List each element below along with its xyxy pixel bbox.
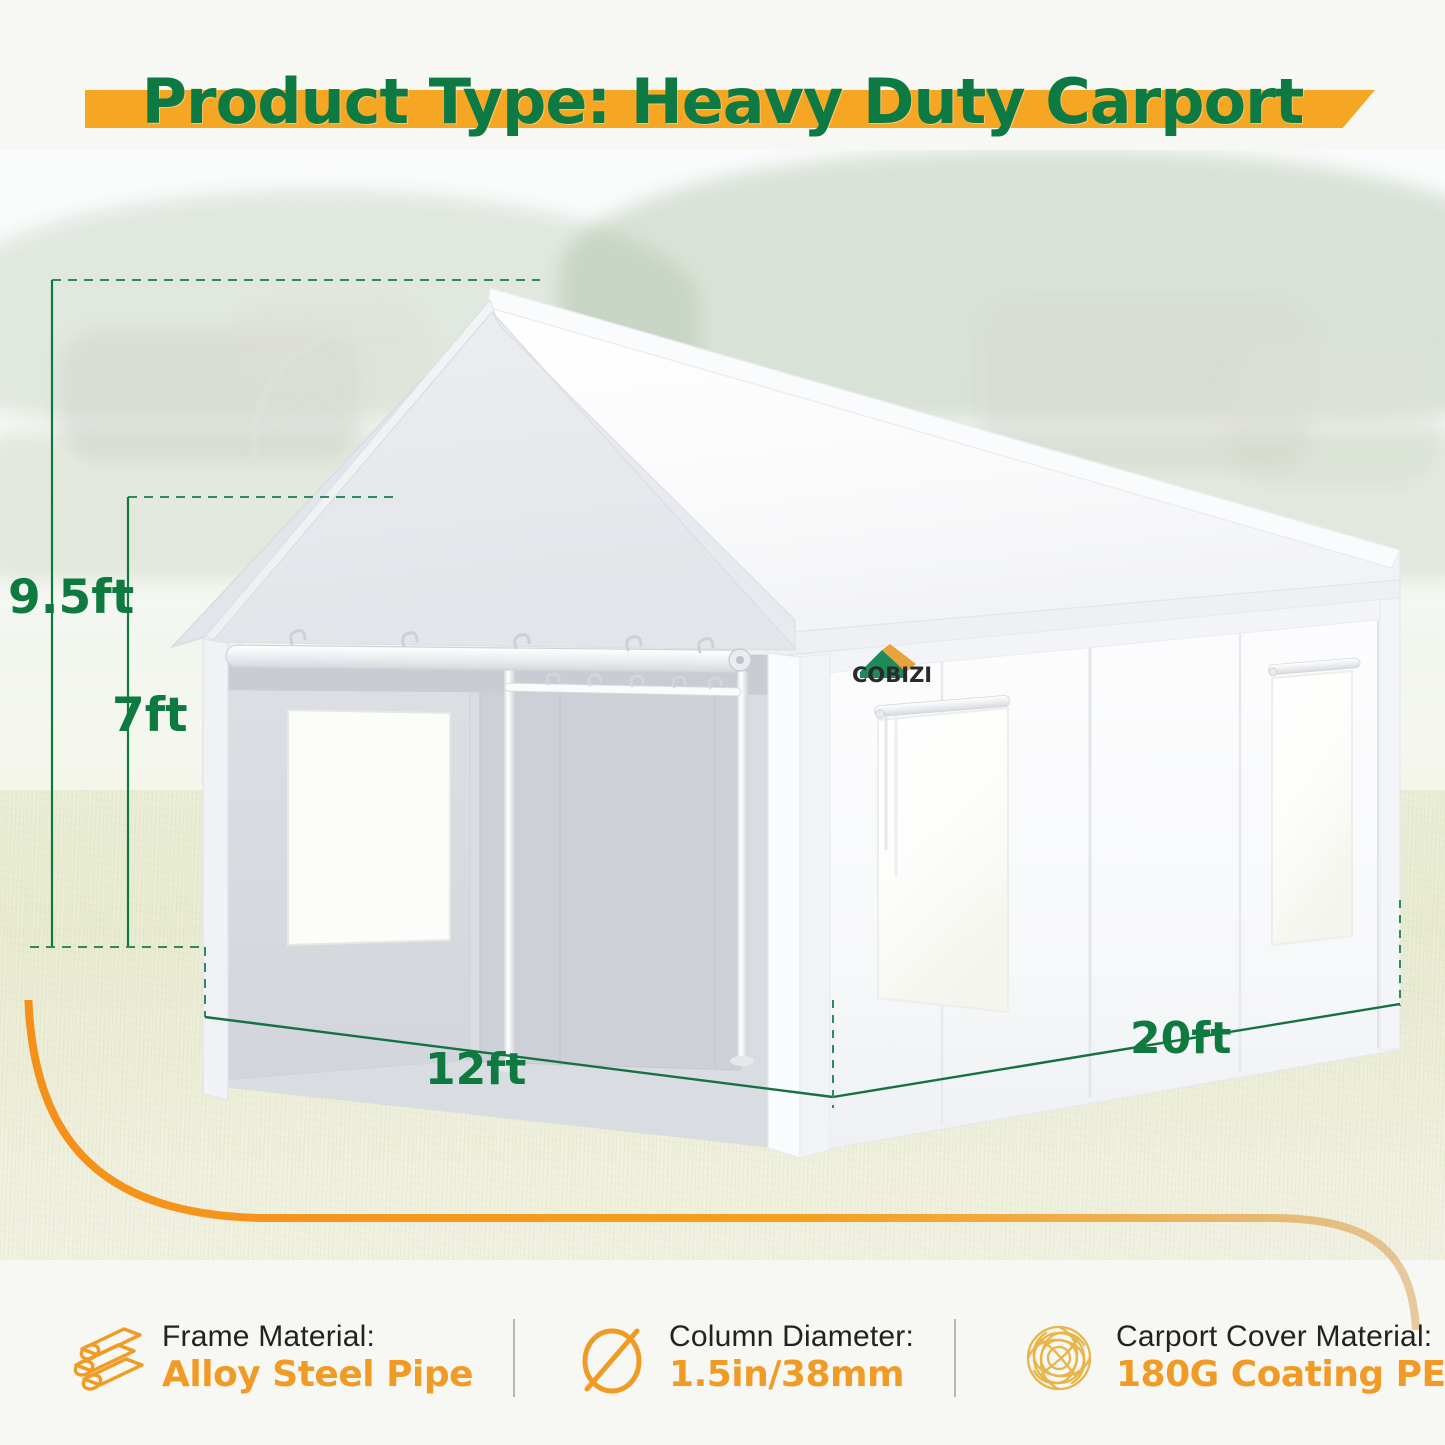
steel-pipes-icon [62,1315,148,1401]
feature-cover-material: Carport Cover Material: 180G Coating PE [1016,1298,1445,1418]
feature-column-diameter: Column Diameter: 1.5in/38mm [569,1298,914,1418]
woven-knot-icon [1016,1315,1102,1401]
page-title: Product Type: Heavy Duty Carport [142,65,1304,138]
feature-text: Column Diameter: 1.5in/38mm [669,1319,914,1397]
diameter-symbol-icon [569,1315,655,1401]
feature-frame-material: Frame Material: Alloy Steel Pipe [62,1298,473,1418]
page-title-banner: Product Type: Heavy Duty Carport [0,46,1445,156]
feature-value: 1.5in/38mm [669,1354,914,1396]
feature-bar: Frame Material: Alloy Steel Pipe Column … [0,1288,1445,1428]
feature-label: Frame Material: [162,1319,473,1354]
feature-value: Alloy Steel Pipe [162,1354,473,1396]
orange-frame-curve [0,1000,1445,1330]
feature-label: Column Diameter: [669,1319,914,1354]
logo-wordmark: COBIZI [852,663,932,687]
feature-text: Carport Cover Material: 180G Coating PE [1116,1319,1445,1397]
infographic-root: Product Type: Heavy Duty Carport [0,0,1445,1445]
feature-text: Frame Material: Alloy Steel Pipe [162,1319,473,1397]
front-left-window [288,710,450,945]
feature-divider [954,1319,956,1397]
feature-label: Carport Cover Material: [1116,1319,1445,1354]
feature-value: 180G Coating PE [1116,1354,1445,1396]
feature-divider [513,1319,515,1397]
corner-post-back-right [1380,598,1400,1050]
front-roll-bar [226,645,751,672]
side-window [1272,671,1352,945]
